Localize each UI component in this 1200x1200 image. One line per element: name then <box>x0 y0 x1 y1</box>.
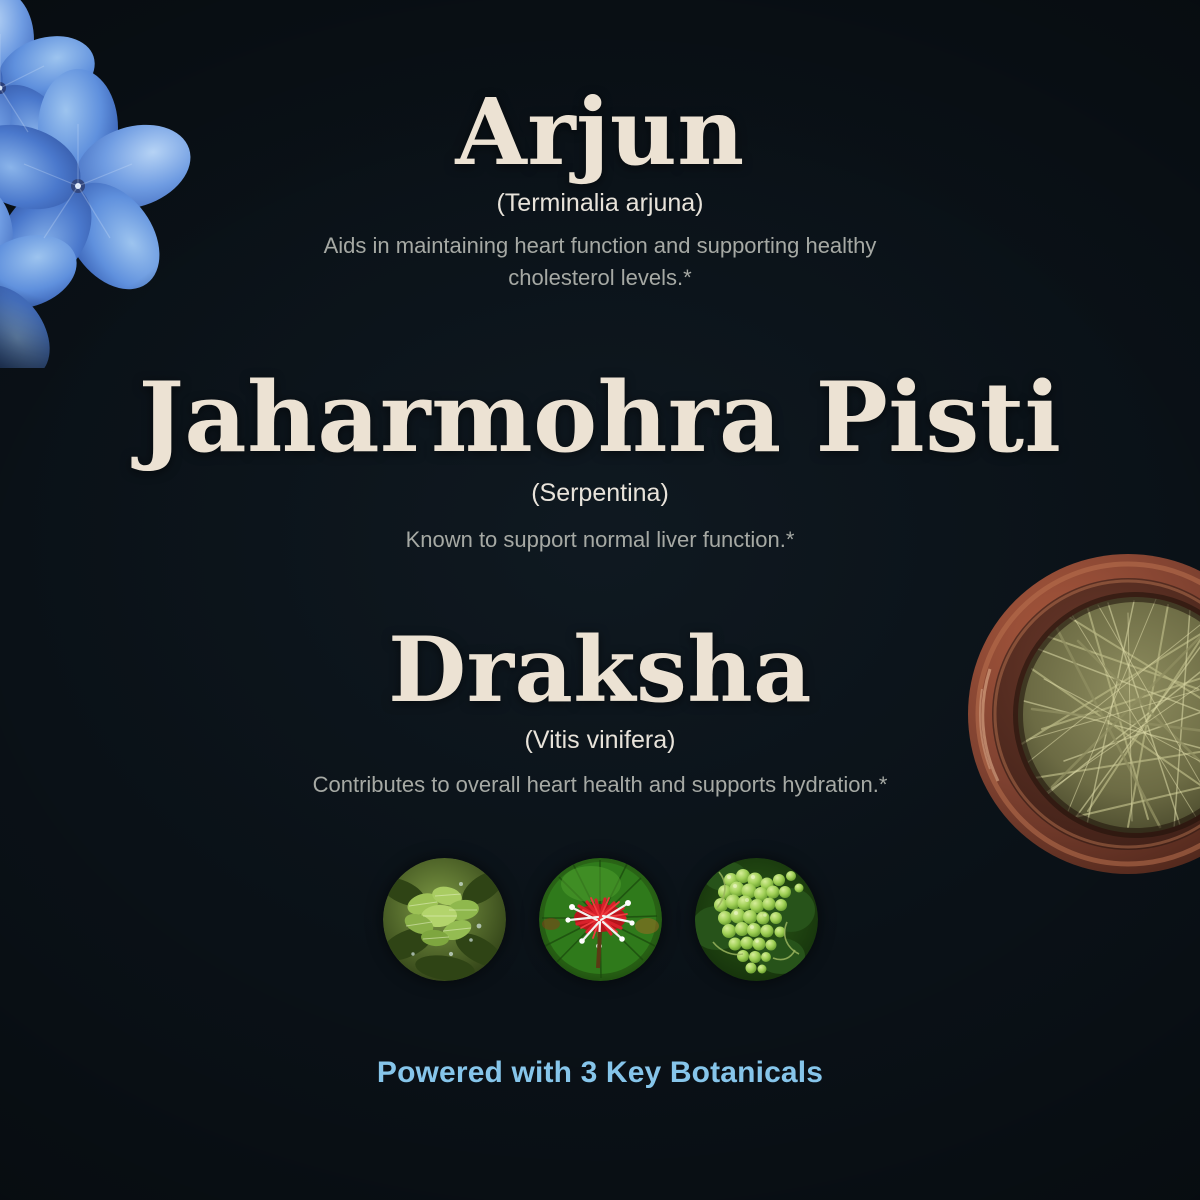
ingredient-infographic: Arjun (Terminalia arjuna) Aids in mainta… <box>0 0 1200 1200</box>
herb-description-arjun: Aids in maintaining heart function and s… <box>280 230 920 294</box>
herb-latin-arjun: (Terminalia arjuna) <box>0 188 1200 218</box>
thumbnail-green-grapes <box>695 858 818 981</box>
herb-block-draksha: Draksha (Vitis vinifera) Contributes to … <box>0 625 1200 801</box>
thumbnail-arjuna-fruit <box>383 858 506 981</box>
herb-name-arjun: Arjun <box>0 86 1200 178</box>
herb-latin-jaharmohra-pisti: (Serpentina) <box>0 478 1200 508</box>
herb-block-jaharmohra-pisti: Jaharmohra Pisti (Serpentina) Known to s… <box>0 370 1200 556</box>
footer-caption: Powered with 3 Key Botanicals <box>0 1056 1200 1090</box>
herb-name-jaharmohra-pisti: Jaharmohra Pisti <box>0 370 1200 466</box>
herb-description-jaharmohra-pisti: Known to support normal liver function.* <box>240 524 960 556</box>
herb-block-arjun: Arjun (Terminalia arjuna) Aids in mainta… <box>0 86 1200 294</box>
botanical-thumbnail-row <box>0 858 1200 981</box>
thumbnail-red-flower <box>539 858 662 981</box>
herb-name-draksha: Draksha <box>0 625 1200 715</box>
herb-description-draksha: Contributes to overall heart health and … <box>210 769 990 801</box>
herb-latin-draksha: (Vitis vinifera) <box>0 725 1200 755</box>
